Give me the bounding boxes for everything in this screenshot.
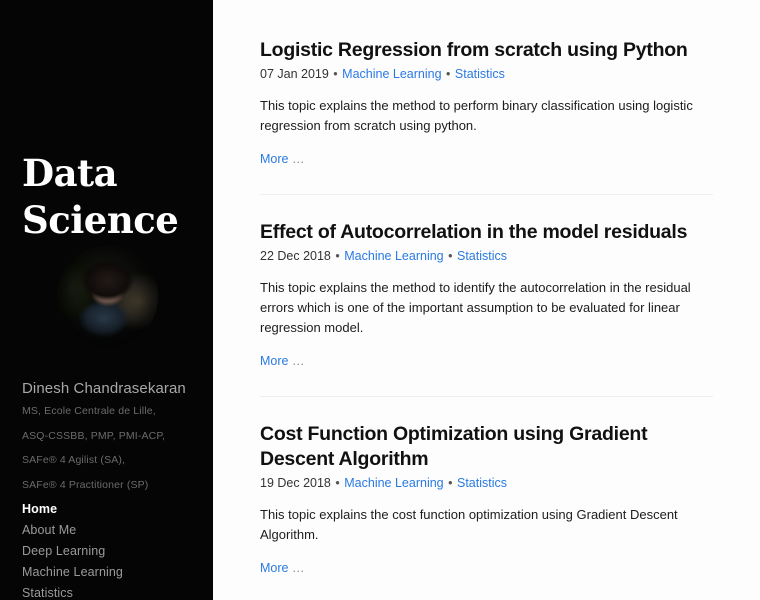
meta-separator-icon: • xyxy=(334,249,340,263)
post-category-link[interactable]: Statistics xyxy=(455,67,505,81)
more-ellipsis-icon: … xyxy=(288,152,304,166)
post-date: 22 Dec 2018 xyxy=(260,249,331,263)
meta-separator-icon: • xyxy=(334,476,340,490)
site-title-line-1: Data xyxy=(22,151,117,195)
author-name: Dinesh Chandrasekaran xyxy=(22,379,186,398)
post-more-link[interactable]: More … xyxy=(260,152,304,166)
credential-item: SAFe® 4 Agilist (SA), xyxy=(22,454,207,466)
credential-item: ASQ-CSSBB, PMP, PMI-ACP, xyxy=(22,430,207,442)
post-item: Effect of Autocorrelation in the model r… xyxy=(260,194,713,396)
credential-item: MS, Ecole Centrale de Lille, xyxy=(22,405,207,417)
post-category-link[interactable]: Statistics xyxy=(457,476,507,490)
post-date: 19 Dec 2018 xyxy=(260,476,331,490)
more-label: More xyxy=(260,354,288,368)
post-category-link[interactable]: Machine Learning xyxy=(342,67,441,81)
sidebar: Data Science Dinesh Chandrasekaran MS, E… xyxy=(0,0,213,600)
page-root: Data Science Dinesh Chandrasekaran MS, E… xyxy=(0,0,760,600)
meta-separator-icon: • xyxy=(447,249,453,263)
credentials-list: MS, Ecole Centrale de Lille, ASQ-CSSBB, … xyxy=(22,405,207,503)
avatar-vignette xyxy=(57,246,158,347)
sidebar-item-deep-learning[interactable]: Deep Learning xyxy=(22,544,207,559)
sidebar-nav: Home About Me Deep Learning Machine Lear… xyxy=(22,502,207,600)
site-title[interactable]: Data Science xyxy=(22,150,197,244)
more-label: More xyxy=(260,561,288,575)
post-item: Cost Function Optimization using Gradien… xyxy=(260,396,713,600)
post-meta: 07 Jan 2019 • Machine Learning • Statist… xyxy=(260,66,713,83)
post-more-link[interactable]: More … xyxy=(260,354,304,368)
post-title[interactable]: Logistic Regression from scratch using P… xyxy=(260,38,713,63)
sidebar-item-home[interactable]: Home xyxy=(22,502,207,517)
post-more-link[interactable]: More … xyxy=(260,561,304,575)
post-category-link[interactable]: Machine Learning xyxy=(344,476,443,490)
post-list: Logistic Regression from scratch using P… xyxy=(213,0,760,600)
avatar xyxy=(57,246,158,347)
post-date: 07 Jan 2019 xyxy=(260,67,329,81)
meta-separator-icon: • xyxy=(445,67,451,81)
post-category-link[interactable]: Statistics xyxy=(457,249,507,263)
post-meta: 19 Dec 2018 • Machine Learning • Statist… xyxy=(260,475,713,492)
credential-item: SAFe® 4 Practitioner (SP) xyxy=(22,479,207,491)
post-meta: 22 Dec 2018 • Machine Learning • Statist… xyxy=(260,248,713,265)
sidebar-item-machine-learning[interactable]: Machine Learning xyxy=(22,565,207,580)
meta-separator-icon: • xyxy=(332,67,338,81)
sidebar-item-about-me[interactable]: About Me xyxy=(22,523,207,538)
more-ellipsis-icon: … xyxy=(288,354,304,368)
post-excerpt: This topic explains the method to identi… xyxy=(260,278,713,338)
site-title-line-2: Science xyxy=(22,198,178,242)
sidebar-item-statistics[interactable]: Statistics xyxy=(22,586,207,600)
post-excerpt: This topic explains the cost function op… xyxy=(260,505,713,545)
more-ellipsis-icon: … xyxy=(288,561,304,575)
meta-separator-icon: • xyxy=(447,476,453,490)
post-item: Logistic Regression from scratch using P… xyxy=(260,0,713,194)
post-category-link[interactable]: Machine Learning xyxy=(344,249,443,263)
post-title[interactable]: Effect of Autocorrelation in the model r… xyxy=(260,220,713,245)
post-title[interactable]: Cost Function Optimization using Gradien… xyxy=(260,422,713,472)
more-label: More xyxy=(260,152,288,166)
post-excerpt: This topic explains the method to perfor… xyxy=(260,96,713,136)
